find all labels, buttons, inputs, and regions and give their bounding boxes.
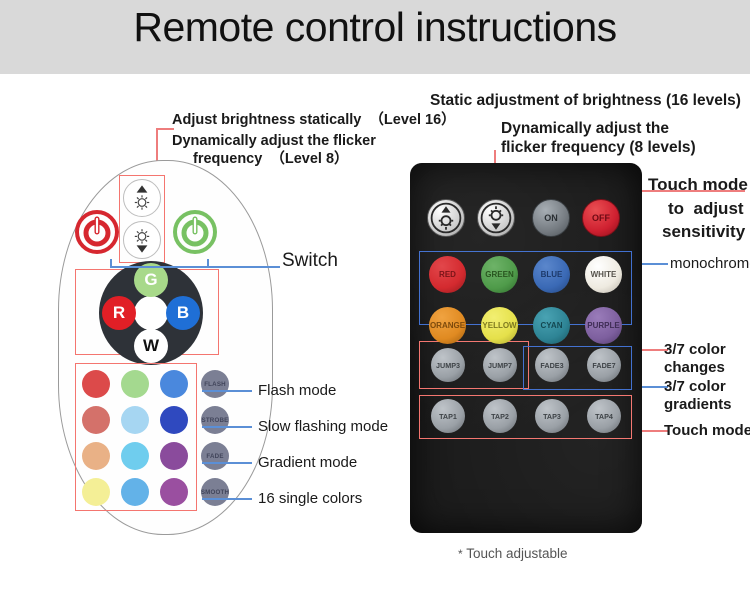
fade7-button[interactable]: FADE7 <box>587 348 621 382</box>
color-swatch[interactable] <box>160 442 188 470</box>
connector-line <box>640 263 668 265</box>
brightness-down-button[interactable] <box>477 199 515 237</box>
color-swatch[interactable] <box>82 478 110 506</box>
flash-mode-button[interactable]: FLASH <box>201 370 229 398</box>
blue-button[interactable]: BLUE <box>533 256 570 293</box>
color-swatch[interactable] <box>160 370 188 398</box>
tap1-button[interactable]: TAP1 <box>431 399 465 433</box>
color-swatch[interactable] <box>121 370 149 398</box>
sun-down-icon <box>478 200 514 236</box>
smooth-mode-button[interactable]: SMOOTH <box>201 478 229 506</box>
label-color-gradients-1: 3/7 color <box>664 378 726 395</box>
tap2-button[interactable]: TAP2 <box>483 399 517 433</box>
connector-line <box>202 390 252 392</box>
orange-button[interactable]: ORANGE <box>429 307 466 344</box>
power-icon <box>173 210 217 254</box>
right-remote-body: ON OFF RED GREEN BLUE WHITE ORANGE YELLO… <box>410 163 642 533</box>
color-swatch[interactable] <box>82 406 110 434</box>
color-swatch[interactable] <box>121 406 149 434</box>
on-button[interactable]: ON <box>532 199 570 237</box>
label-brightness-static: Adjust brightness statically （Level 16） <box>172 112 456 129</box>
power-on-button[interactable] <box>173 210 217 254</box>
wheel-red-button[interactable]: R <box>102 296 136 330</box>
brightness-up-button[interactable] <box>123 179 161 217</box>
wheel-green-button[interactable]: G <box>134 263 168 297</box>
label-flicker-line1: Dynamically adjust the flicker <box>172 133 376 150</box>
color-swatch[interactable] <box>121 478 149 506</box>
brightness-up-button[interactable] <box>427 199 465 237</box>
label-touch-sensitivity-2: to adjust <box>668 200 744 217</box>
color-swatch[interactable] <box>160 478 188 506</box>
connector-line <box>156 128 174 130</box>
jump3-button[interactable]: JUMP3 <box>431 348 465 382</box>
label-static-brightness: Static adjustment of brightness (16 leve… <box>430 92 741 109</box>
sun-up-icon <box>124 180 160 216</box>
left-remote-body: G R B W FLASH STROBE FADE SMOOTH <box>58 160 273 535</box>
label-color-changes-1: 3/7 color <box>664 341 726 358</box>
label-dynamic-line1: Dynamically adjust the <box>501 120 669 137</box>
yellow-button[interactable]: YELLOW <box>481 307 518 344</box>
color-wheel: G R B W <box>99 261 203 365</box>
power-icon <box>75 210 119 254</box>
label-color-changes-2: changes <box>664 359 725 376</box>
label-monochrome: monochrome <box>670 255 750 272</box>
sun-down-icon <box>124 222 160 258</box>
label-touch-sensitivity-3: sensitivity <box>662 223 745 240</box>
strobe-mode-button[interactable]: STROBE <box>201 406 229 434</box>
color-swatch[interactable] <box>160 406 188 434</box>
connector-line <box>202 498 252 500</box>
label-touch-mode: Touch mode <box>664 422 750 439</box>
label-gradient-mode: Gradient mode <box>258 454 357 471</box>
label-flash-mode: Flash mode <box>258 382 336 399</box>
color-swatch[interactable] <box>121 442 149 470</box>
fade-mode-button[interactable]: FADE <box>201 442 229 470</box>
label-slow-flashing-mode: Slow flashing mode <box>258 418 388 435</box>
page-root: Remote control instructions Adjust brigh… <box>0 0 750 589</box>
fade3-button[interactable]: FADE3 <box>535 348 569 382</box>
wheel-center-button[interactable] <box>134 296 168 330</box>
asterisk-icon: * <box>458 547 463 561</box>
footnote: * Touch adjustable <box>458 546 568 561</box>
power-off-button[interactable] <box>75 210 119 254</box>
cyan-button[interactable]: CYAN <box>533 307 570 344</box>
off-button[interactable]: OFF <box>582 199 620 237</box>
jump7-button[interactable]: JUMP7 <box>483 348 517 382</box>
label-single-colors: 16 single colors <box>258 490 362 507</box>
tap4-button[interactable]: TAP4 <box>587 399 621 433</box>
purple-button[interactable]: PURPLE <box>585 307 622 344</box>
wheel-blue-button[interactable]: B <box>166 296 200 330</box>
label-switch: Switch <box>282 252 338 269</box>
label-dynamic-line2: flicker frequency (8 levels) <box>501 139 696 156</box>
white-button[interactable]: WHITE <box>585 256 622 293</box>
header-bar: Remote control instructions <box>0 0 750 74</box>
wheel-white-button[interactable]: W <box>134 329 168 363</box>
color-swatch[interactable] <box>82 442 110 470</box>
label-color-gradients-2: gradients <box>664 396 732 413</box>
green-button[interactable]: GREEN <box>481 256 518 293</box>
tap3-button[interactable]: TAP3 <box>535 399 569 433</box>
label-touch-sensitivity-1: Touch mode <box>648 176 748 193</box>
label-flicker-line2: frequency （Level 8） <box>193 151 349 168</box>
color-swatch[interactable] <box>82 370 110 398</box>
page-title: Remote control instructions <box>0 4 750 51</box>
connector-line <box>110 266 280 268</box>
connector-line <box>202 462 252 464</box>
brightness-down-button[interactable] <box>123 221 161 259</box>
red-button[interactable]: RED <box>429 256 466 293</box>
sun-up-icon <box>428 200 464 236</box>
footnote-text: Touch adjustable <box>466 546 567 561</box>
connector-line <box>202 426 252 428</box>
